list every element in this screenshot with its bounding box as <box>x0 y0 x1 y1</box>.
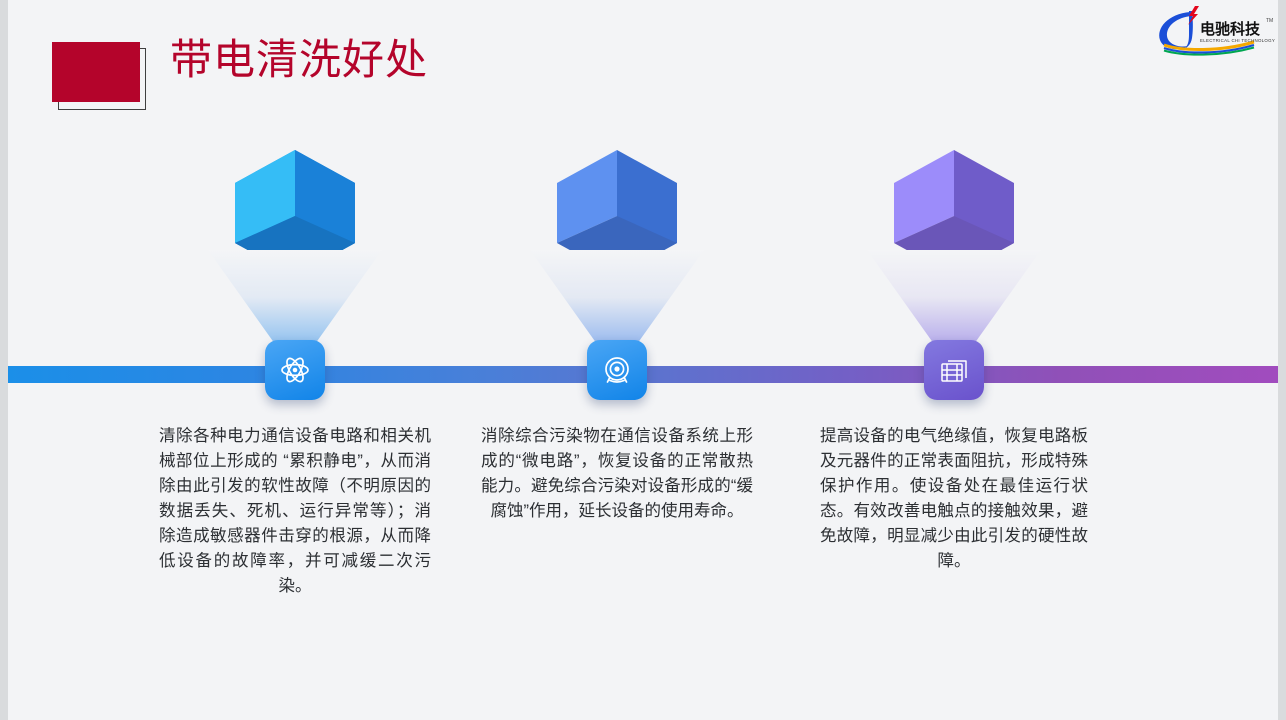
column-2: 消除综合污染物在通信设备系统上形成的“微电路”，恢复设备的正常散热能力。避免综合… <box>447 0 787 720</box>
slide-canvas: 带电清洗好处 电驰科技 ELECTRICAL CHI TECHNOLOGY TM <box>0 0 1286 720</box>
logo-arc-icon <box>1164 42 1254 55</box>
logo-subtitle-text: ELECTRICAL CHI TECHNOLOGY <box>1200 38 1275 43</box>
film-strip-icon <box>938 354 970 386</box>
atom-icon <box>279 354 311 386</box>
column-3-text: 提高设备的电气绝缘值，恢复电路板及元器件的正常表面阻抗，形成特殊保护作用。使设备… <box>820 424 1088 574</box>
left-edge-strip <box>0 0 8 720</box>
logo-trademark-text: TM <box>1266 18 1273 24</box>
target-gauge-icon <box>601 354 633 386</box>
company-logo: 电驰科技 ELECTRICAL CHI TECHNOLOGY TM <box>1148 4 1276 56</box>
column-3: 提高设备的电气绝缘值，恢复电路板及元器件的正常表面阻抗，形成特殊保护作用。使设备… <box>784 0 1124 720</box>
icon-tile-1[interactable] <box>265 340 325 400</box>
icon-tile-3[interactable] <box>924 340 984 400</box>
column-1: 清除各种电力通信设备电路和相关机械部位上形成的 “累积静电”，从而消除由此引发的… <box>125 0 465 720</box>
logo-name-text: 电驰科技 <box>1200 20 1261 38</box>
right-edge-strip <box>1278 0 1286 720</box>
logo-lightning-icon <box>1188 6 1199 25</box>
column-1-text: 清除各种电力通信设备电路和相关机械部位上形成的 “累积静电”，从而消除由此引发的… <box>159 424 431 599</box>
icon-tile-2[interactable] <box>587 340 647 400</box>
column-2-text: 消除综合污染物在通信设备系统上形成的“微电路”，恢复设备的正常散热能力。避免综合… <box>481 424 753 524</box>
